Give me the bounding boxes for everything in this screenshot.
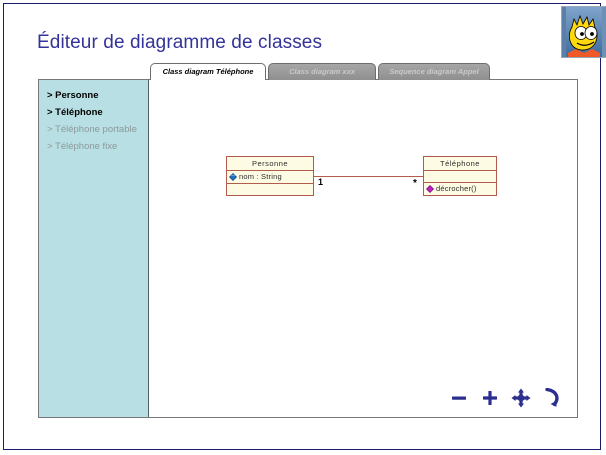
class-list-sidebar: > Personne > Téléphone > Téléphone porta…	[39, 80, 149, 417]
zoom-out-button[interactable]	[448, 387, 470, 409]
tab-class-diagram-telephone[interactable]: Class diagram Téléphone	[150, 63, 266, 80]
attribute-diamond-icon	[229, 173, 237, 181]
bart-simpson-photo	[561, 6, 606, 58]
uml-operations-compartment[interactable]	[227, 184, 313, 195]
uml-attributes-compartment[interactable]	[424, 171, 496, 183]
uml-class-personne[interactable]: Personne nom : String	[226, 156, 314, 196]
association-source-multiplicity: 1	[318, 178, 323, 187]
uml-class-name: Personne	[227, 157, 313, 171]
tab-class-diagram-xxx[interactable]: Class diagram xxx	[268, 63, 376, 80]
pan-button[interactable]	[510, 387, 532, 409]
association-target-multiplicity: *	[413, 179, 417, 188]
curved-arrow-icon	[543, 388, 561, 408]
uml-attribute-label: nom : String	[239, 172, 282, 182]
sidebar-item-telephone[interactable]: > Téléphone	[39, 104, 148, 121]
uml-class-name: Téléphone	[424, 157, 496, 171]
uml-class-telephone[interactable]: Téléphone décrocher()	[423, 156, 497, 196]
uml-operations-compartment[interactable]: décrocher()	[424, 183, 496, 195]
canvas-toolbar	[448, 387, 563, 409]
minus-icon	[450, 389, 468, 407]
uml-attributes-compartment[interactable]: nom : String	[227, 171, 313, 184]
page-title: Éditeur de diagramme de classes	[37, 32, 322, 54]
operation-diamond-icon	[426, 185, 434, 193]
editor-frame: > Personne > Téléphone > Téléphone porta…	[38, 79, 578, 418]
uml-attribute-row[interactable]: nom : String	[229, 172, 311, 182]
sidebar-item-telephone-fixe[interactable]: > Téléphone fixe	[39, 138, 148, 155]
sidebar-item-telephone-portable[interactable]: > Téléphone portable	[39, 121, 148, 138]
slide-frame: Éditeur de diagramme de classes	[3, 3, 601, 450]
rotate-button[interactable]	[541, 387, 563, 409]
plus-icon	[481, 389, 499, 407]
diagram-canvas[interactable]: 1 * Personne nom : String	[150, 80, 577, 417]
sidebar-item-personne[interactable]: > Personne	[39, 87, 148, 104]
move-cross-arrows-icon	[511, 388, 531, 408]
tab-sequence-diagram-appel[interactable]: Sequence diagram Appel	[378, 63, 490, 80]
zoom-in-button[interactable]	[479, 387, 501, 409]
uml-operation-label: décrocher()	[436, 184, 477, 194]
uml-operation-row[interactable]: décrocher()	[426, 184, 494, 194]
association-line[interactable]	[314, 176, 423, 177]
